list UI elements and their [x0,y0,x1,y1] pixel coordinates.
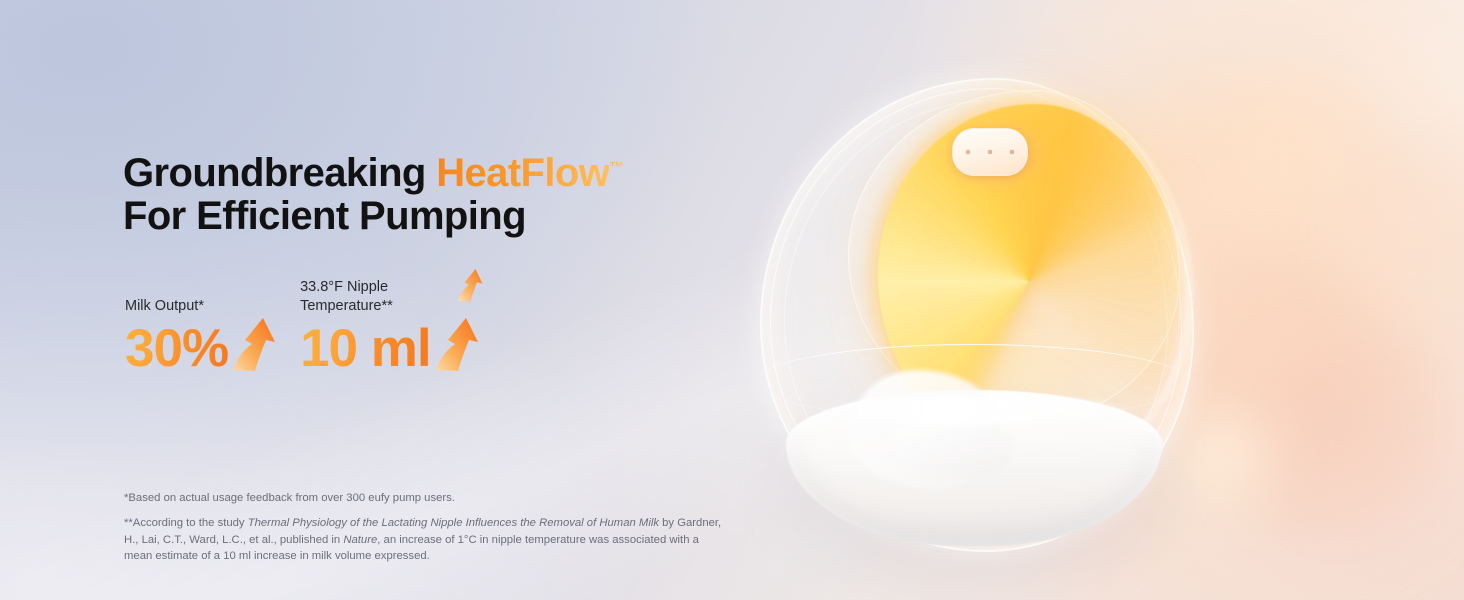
footnote-text: **According to the study [124,517,248,529]
stat-milk-output: Milk Output* 30% [125,297,276,375]
pump-control-button[interactable] [952,128,1028,176]
stat-value-row: 30% [125,316,276,374]
milk-surface-highlight [812,396,1132,426]
content-column: Groundbreaking HeatFlow™ For Efficient P… [123,0,763,600]
heatflow-promo-banner: Groundbreaking HeatFlow™ For Efficient P… [0,0,1464,600]
stat-value: 10 ml [300,324,431,374]
headline-line2: For Efficient Pumping [123,194,526,238]
footnote-usage-feedback: *Based on actual usage feedback from ove… [124,490,724,506]
headline-line1-prefix: Groundbreaking [123,151,436,195]
brand-name-heatflow: HeatFlow [436,151,609,195]
stat-nipple-temperature: 33.8°F Nipple Temperature** 10 ml [298,278,479,374]
stat-value-row: 10 ml [300,316,479,374]
stat-value: 30% [125,324,228,374]
stat-label: 33.8°F Nipple Temperature** [300,278,479,315]
product-image-wearable-breast-pump [752,60,1222,580]
footnotes-group: *Based on actual usage feedback from ove… [124,490,724,565]
footnote-text: *Based on actual usage feedback from ove… [124,492,455,504]
page-title: Groundbreaking HeatFlow™ For Efficient P… [123,152,624,238]
up-trend-arrow-icon [457,268,483,302]
footnote-title-italic: Thermal Physiology of the Lactating Nipp… [248,517,659,529]
footnote-study-citation: **According to the study Thermal Physiol… [124,515,724,564]
trademark-icon: ™ [609,159,624,176]
up-trend-arrow-icon [435,316,479,372]
stats-group: Milk Output* 30% [125,278,479,374]
milk-drip [892,418,1012,476]
up-trend-arrow-icon [232,316,276,372]
footnote-title-italic: Nature [343,534,377,546]
stat-label: Milk Output* [125,297,276,316]
